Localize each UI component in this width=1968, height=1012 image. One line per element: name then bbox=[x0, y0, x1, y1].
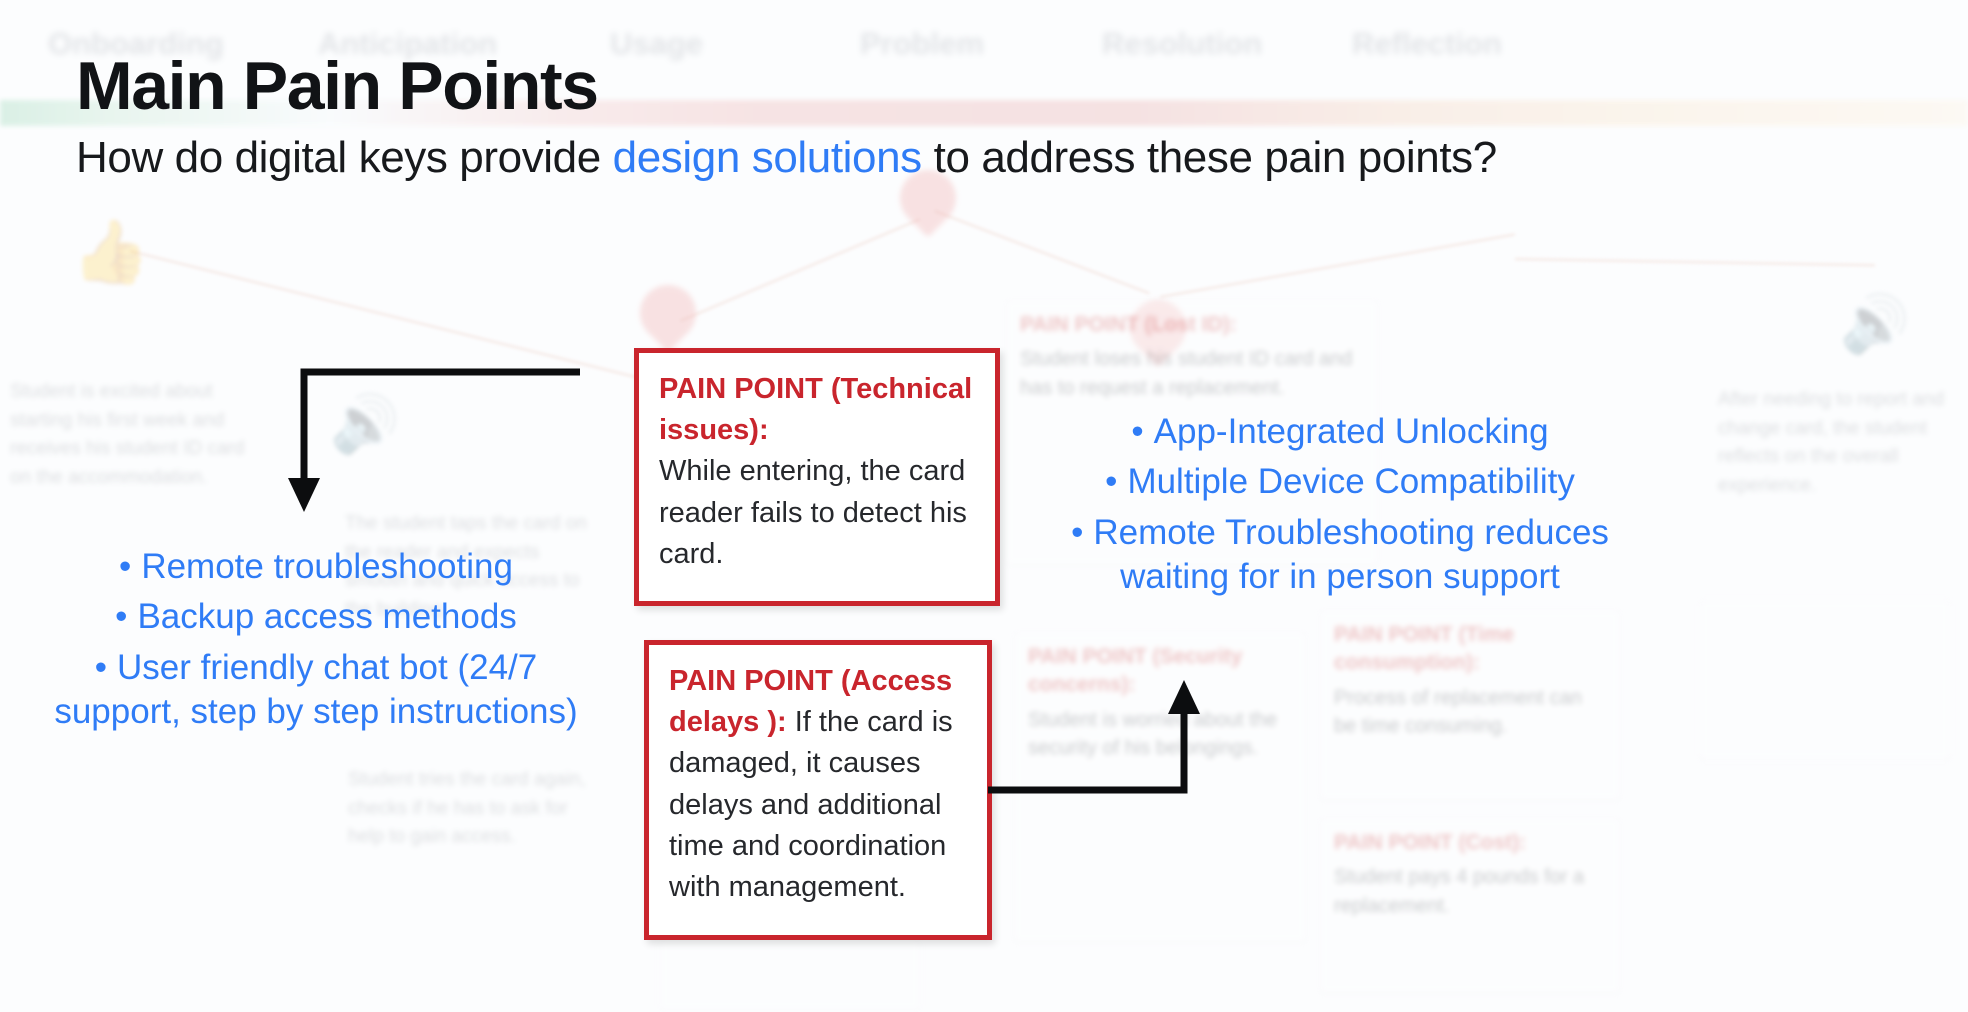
bg-card-time: PAIN POINT (Time consumption): Process o… bbox=[1320, 610, 1620, 800]
emotion-line-segment-3 bbox=[934, 210, 1149, 294]
bg-card-lost-id-body: Student loses his student ID card and ha… bbox=[1020, 345, 1364, 402]
page-title: Main Pain Points bbox=[76, 52, 598, 120]
solutions-list-left: •Remote troubleshooting •Backup access m… bbox=[46, 545, 586, 741]
subtitle-text-before: How do digital keys provide bbox=[76, 133, 613, 182]
bullet-icon: • bbox=[119, 547, 131, 586]
solution-left-item-3: •User friendly chat bot (24/7 support, s… bbox=[46, 646, 586, 735]
thumbs-up-icon: 👍 bbox=[72, 222, 149, 284]
solution-left-label-2: Backup access methods bbox=[137, 597, 516, 636]
bullet-icon: • bbox=[1131, 412, 1143, 451]
solution-right-label-1: App-Integrated Unlocking bbox=[1154, 412, 1549, 451]
solution-left-label-1: Remote troubleshooting bbox=[141, 547, 513, 586]
pain-point-card-technical-issues: PAIN POINT (Technical issues): While ent… bbox=[634, 348, 1000, 606]
bullet-icon: • bbox=[1071, 513, 1083, 552]
bullet-icon: • bbox=[1105, 462, 1117, 501]
subtitle-highlight: design solutions bbox=[613, 133, 922, 182]
emotion-line-segment-4 bbox=[1160, 233, 1515, 297]
solution-right-item-3: •Remote Troubleshooting reduces waiting … bbox=[1040, 511, 1640, 600]
bullet-icon: • bbox=[115, 597, 127, 636]
pain-point-card-access-delays: PAIN POINT (Access delays ): If the card… bbox=[644, 640, 992, 940]
bg-card-time-title: PAIN POINT (Time consumption): bbox=[1334, 621, 1606, 678]
solution-right-item-2: •Multiple Device Compatibility bbox=[1040, 460, 1640, 504]
journey-stage-resolution: Resolution bbox=[1102, 26, 1262, 62]
journey-stage-usage: Usage bbox=[610, 26, 703, 62]
page-subtitle: How do digital keys provide design solut… bbox=[76, 133, 1497, 183]
solution-right-item-1: •App-Integrated Unlocking bbox=[1040, 410, 1640, 454]
bg-card-cost-body: Student pays 4 pounds for a replacement. bbox=[1334, 863, 1606, 920]
bg-card-time-body: Process of replacement can be time consu… bbox=[1334, 684, 1606, 741]
solution-left-label-3: User friendly chat bot (24/7 support, st… bbox=[54, 648, 577, 731]
solutions-list-right: •App-Integrated Unlocking •Multiple Devi… bbox=[1040, 410, 1640, 606]
bg-card-cost-title: PAIN POINT (Cost): bbox=[1334, 829, 1606, 857]
arrow-to-right-solutions bbox=[988, 680, 1218, 800]
map-pin-resolution bbox=[1118, 288, 1197, 367]
bg-card-extra-bottom bbox=[660, 940, 920, 1010]
bg-card-cost: PAIN POINT (Cost): Student pays 4 pounds… bbox=[1320, 818, 1620, 993]
solution-left-item-1: •Remote troubleshooting bbox=[46, 545, 586, 589]
bullet-icon: • bbox=[95, 648, 107, 687]
bg-card-extra-right bbox=[1700, 600, 1950, 760]
pain-point-technical-label: PAIN POINT (Technical issues): bbox=[659, 369, 977, 451]
solution-right-label-2: Multiple Device Compatibility bbox=[1127, 462, 1574, 501]
journey-stage-problem: Problem bbox=[860, 26, 984, 62]
arrow-to-left-solutions bbox=[280, 360, 590, 520]
pain-point-technical-body: While entering, the card reader fails to… bbox=[659, 451, 977, 575]
map-pin-usage bbox=[628, 273, 707, 352]
note-onboarding: Student is excited about starting his fi… bbox=[10, 378, 260, 492]
emotion-line-segment-2 bbox=[680, 218, 920, 321]
solution-left-item-2: •Backup access methods bbox=[46, 595, 586, 639]
note-usage: Student tries the card again, checks if … bbox=[348, 766, 598, 852]
subtitle-text-after: to address these pain points? bbox=[922, 133, 1497, 182]
bg-card-lost-id-title: PAIN POINT (Lost ID): bbox=[1020, 311, 1364, 339]
emotion-line-segment-5 bbox=[1515, 258, 1875, 266]
note-reflection: After needing to report and change card,… bbox=[1718, 386, 1963, 500]
speaker-icon-right: 🔊 bbox=[1840, 296, 1910, 352]
slide-canvas: Onboarding Anticipation Usage Problem Re… bbox=[0, 0, 1968, 1012]
solution-right-label-3: Remote Troubleshooting reduces waiting f… bbox=[1093, 513, 1609, 596]
journey-stage-reflection: Reflection bbox=[1352, 26, 1502, 62]
